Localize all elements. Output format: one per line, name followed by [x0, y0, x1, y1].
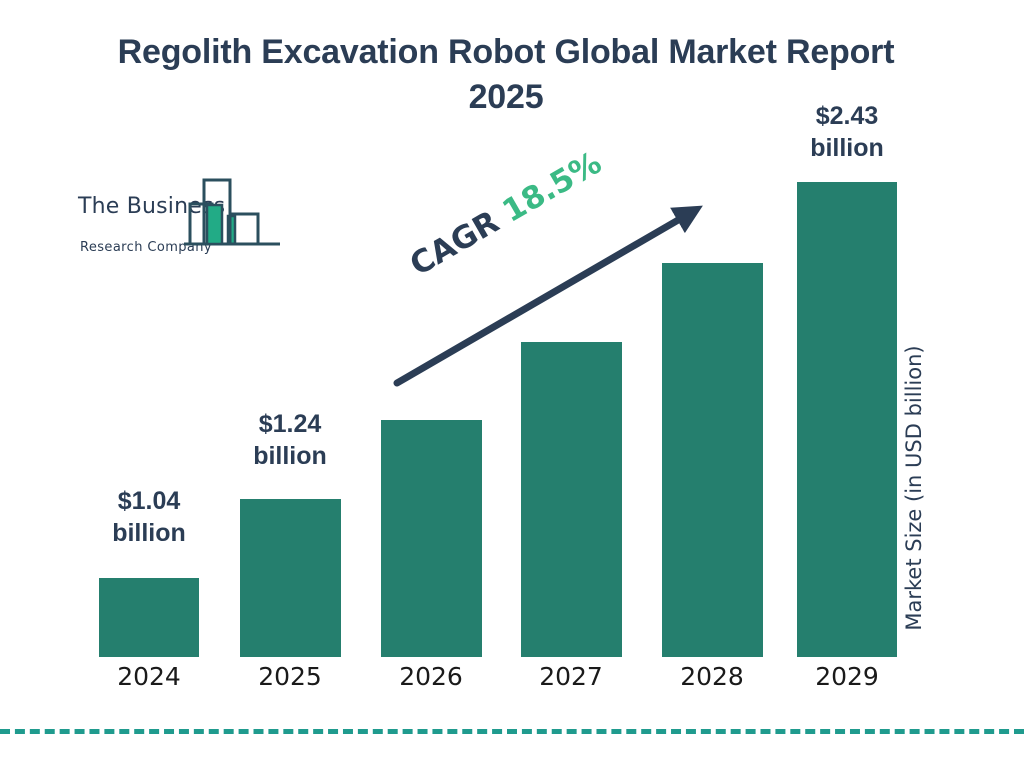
bar-value-2024: $1.04 billion	[79, 485, 219, 549]
bar-value-2025: $1.24 billion	[220, 408, 360, 472]
bar-2026	[381, 420, 482, 657]
x-tick-2026: 2026	[361, 662, 501, 691]
x-tick-2029: 2029	[777, 662, 917, 691]
bar-2028	[662, 263, 763, 657]
x-tick-2027: 2027	[501, 662, 641, 691]
bar-value-2025-amount: $1.24 billion	[253, 410, 327, 470]
cagr-word: CAGR	[404, 204, 505, 283]
bar-value-2029: $2.43 billion	[777, 100, 917, 164]
bar-value-2024-amount: $1.04 billion	[112, 487, 186, 547]
x-tick-2028: 2028	[642, 662, 782, 691]
chart-canvas: Regolith Excavation Robot Global Market …	[0, 0, 1024, 768]
bar-2027	[521, 342, 622, 657]
bar-value-2029-amount: $2.43 billion	[810, 102, 884, 162]
cagr-rate: 18.5%	[497, 145, 608, 230]
x-tick-2024: 2024	[79, 662, 219, 691]
bar-2029	[797, 182, 897, 657]
footer-divider	[0, 729, 1024, 734]
cagr-annotation: CAGR 18.5%	[404, 145, 608, 283]
y-axis-label: Market Size (in USD billion)	[902, 318, 926, 658]
bar-2025	[240, 499, 341, 657]
plot-area: $1.04 billion $1.24 billion $2.43 billio…	[0, 0, 1024, 768]
bar-2024	[99, 578, 199, 657]
x-tick-2025: 2025	[220, 662, 360, 691]
